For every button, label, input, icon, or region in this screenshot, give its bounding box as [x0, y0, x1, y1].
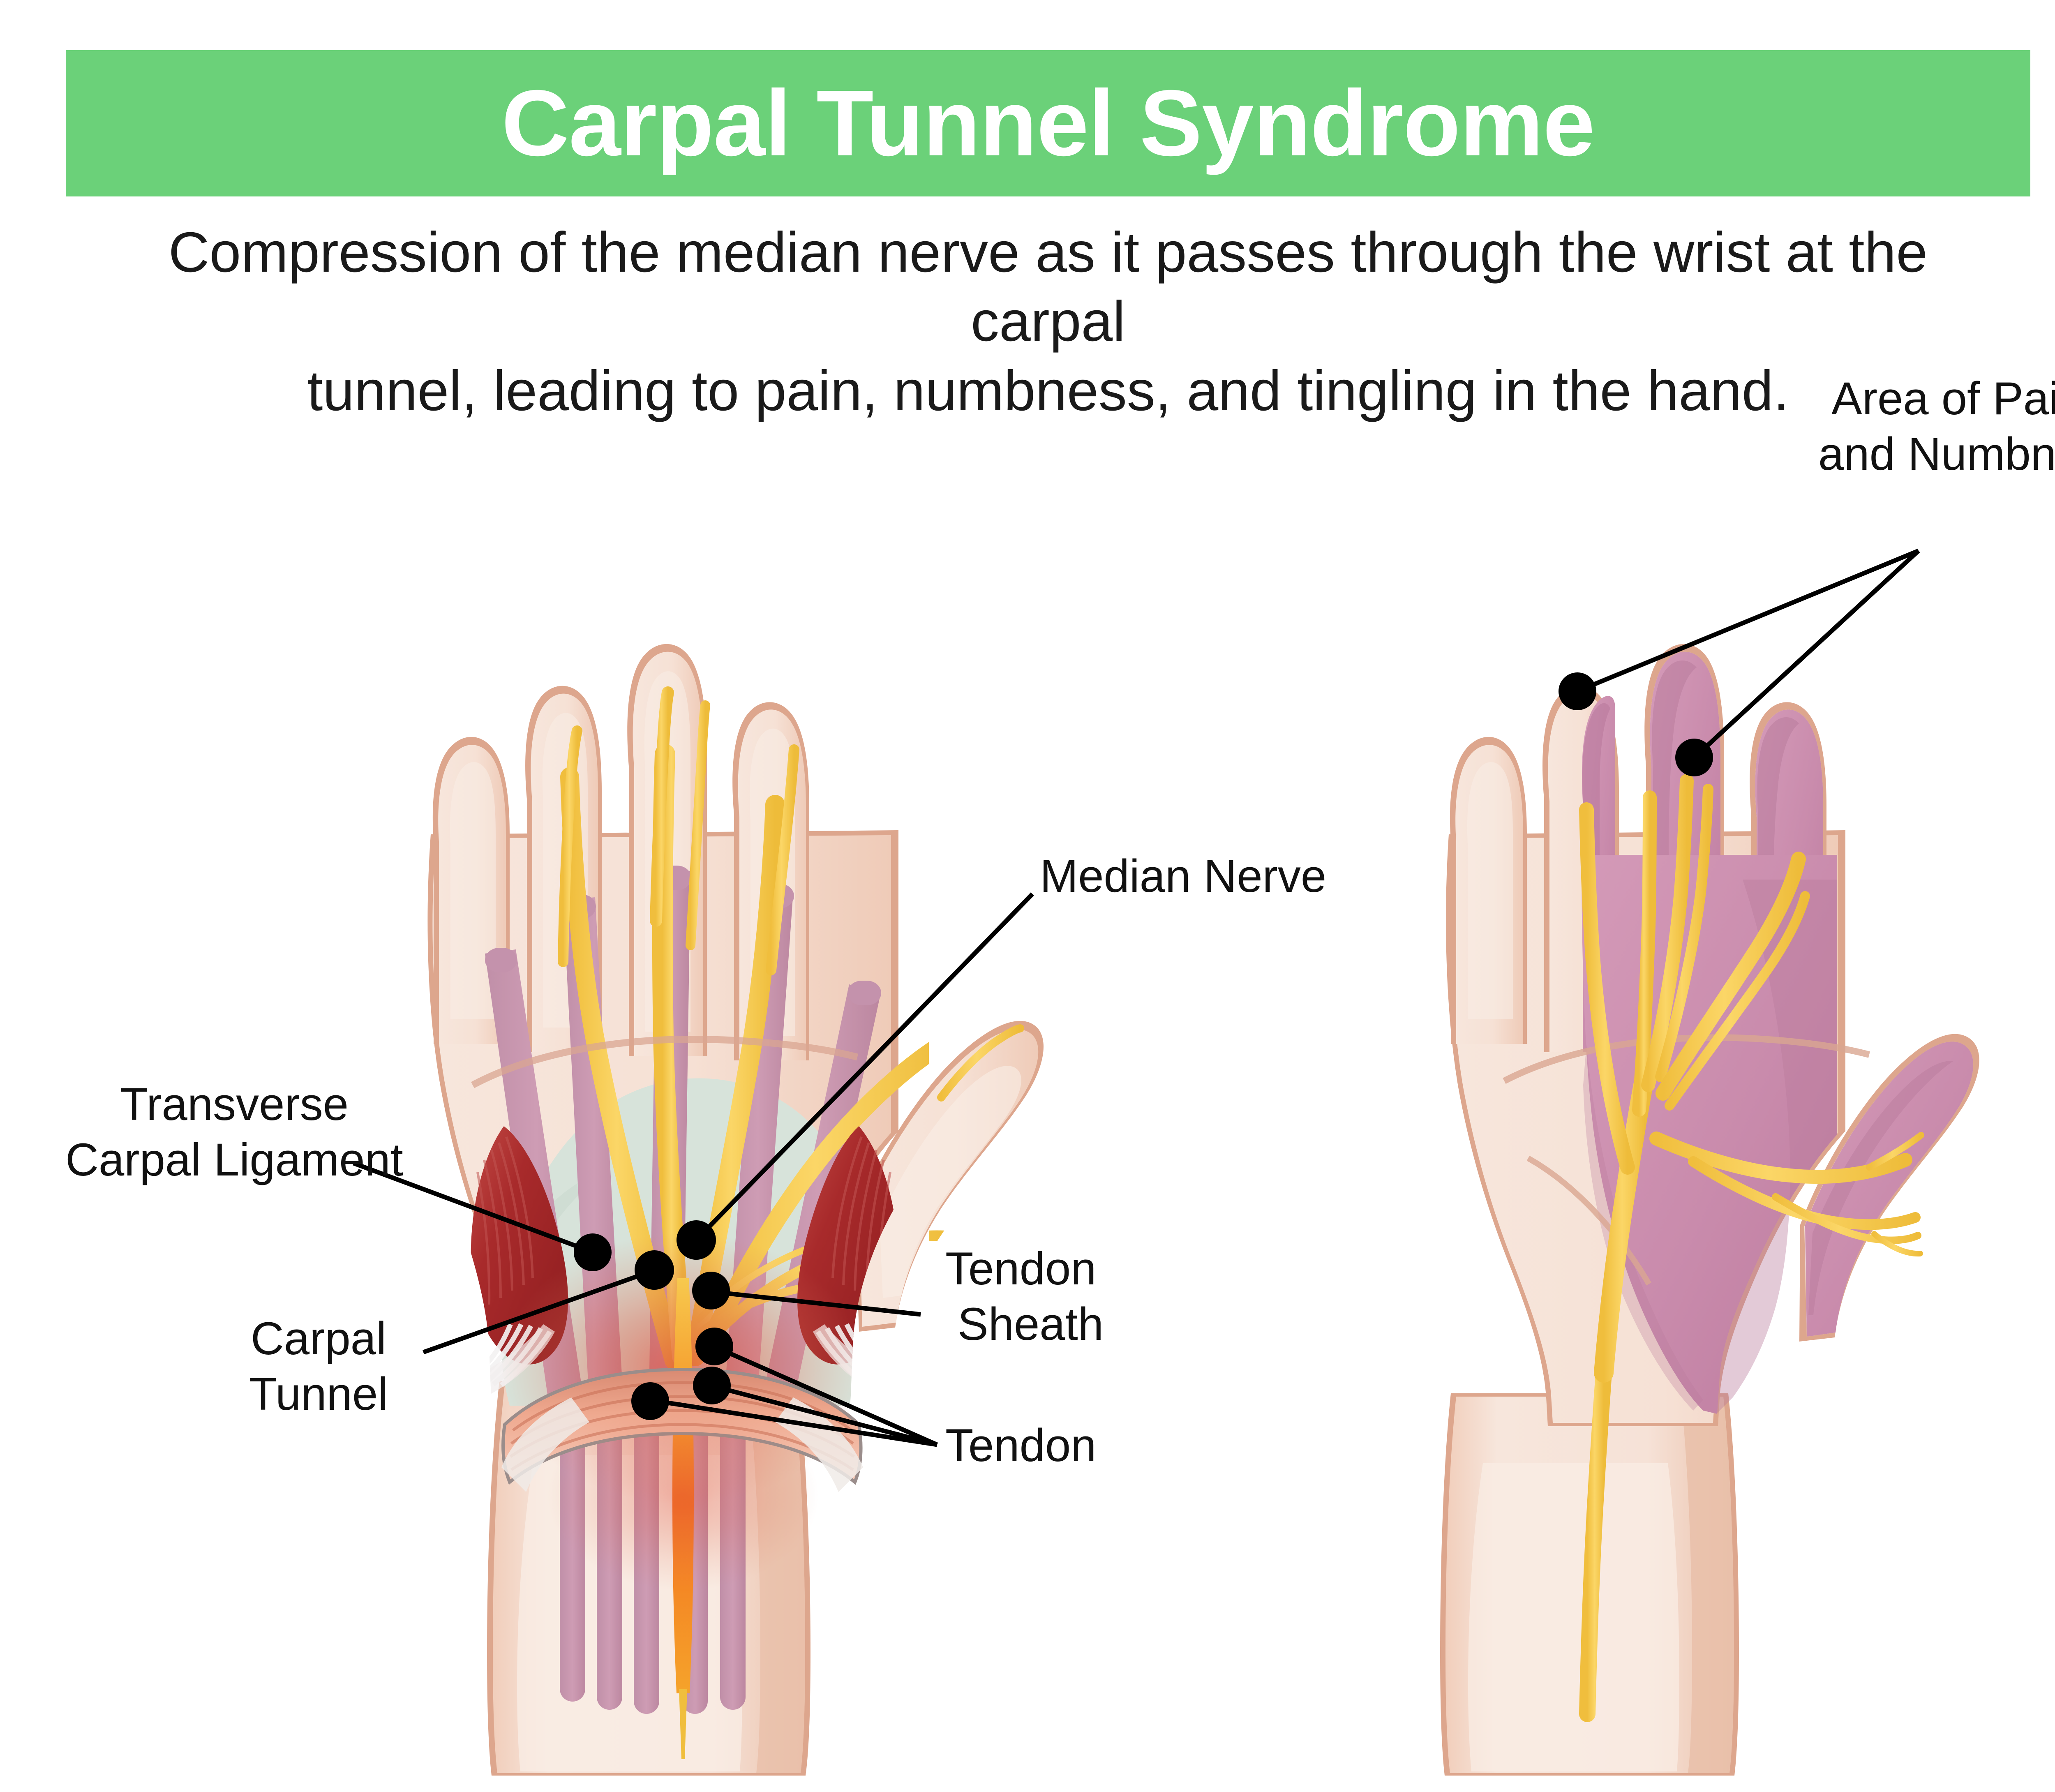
marker-transverse-carpal-ligament[interactable]: [574, 1233, 612, 1271]
label-transverse-carpal-ligament-line1: Transverse: [120, 1078, 349, 1130]
marker-tendon-sheath[interactable]: [692, 1272, 730, 1309]
marker-tendon-2[interactable]: [693, 1367, 731, 1404]
leader-group-area-of-pain: [1579, 551, 1919, 756]
page-title: Carpal Tunnel Syndrome: [501, 76, 1595, 170]
label-transverse-carpal-ligament-line2: Carpal Ligament: [65, 1134, 403, 1185]
label-tendon: Tendon: [945, 1420, 1096, 1471]
label-area-of-pain-line2: and Numbness: [1818, 428, 2055, 480]
label-tendon-sheath-line1: Tendon: [945, 1243, 1096, 1294]
marker-median-nerve[interactable]: [677, 1220, 716, 1260]
right-hand-figure: [1440, 644, 1979, 1776]
diagram-page: Carpal Tunnel Syndrome Compression of th…: [0, 0, 2055, 1791]
wrist-inflammation: [547, 1402, 819, 1591]
label-area-of-pain-line1: Area of Pain: [1831, 373, 2055, 424]
left-hand-figure: [427, 644, 1044, 1776]
title-banner: Carpal Tunnel Syndrome: [66, 50, 2030, 196]
marker-carpal-tunnel[interactable]: [635, 1250, 674, 1290]
label-carpal-tunnel-line2: Tunnel: [249, 1368, 388, 1420]
label-carpal-tunnel-line1: Carpal: [251, 1313, 386, 1364]
marker-tendon-1[interactable]: [695, 1328, 733, 1365]
marker-tendon-3[interactable]: [631, 1382, 669, 1420]
marker-area-of-pain-finger[interactable]: [1559, 672, 1596, 710]
label-tendon-sheath-line2: Sheath: [958, 1298, 1104, 1350]
anatomy-illustration: Transverse Carpal Ligament Carpal Tunnel…: [0, 345, 2055, 1792]
label-median-nerve: Median Nerve: [1040, 850, 1326, 902]
marker-area-of-pain-palm[interactable]: [1675, 739, 1713, 776]
subtitle-line-1: Compression of the median nerve as it pa…: [103, 218, 1993, 356]
